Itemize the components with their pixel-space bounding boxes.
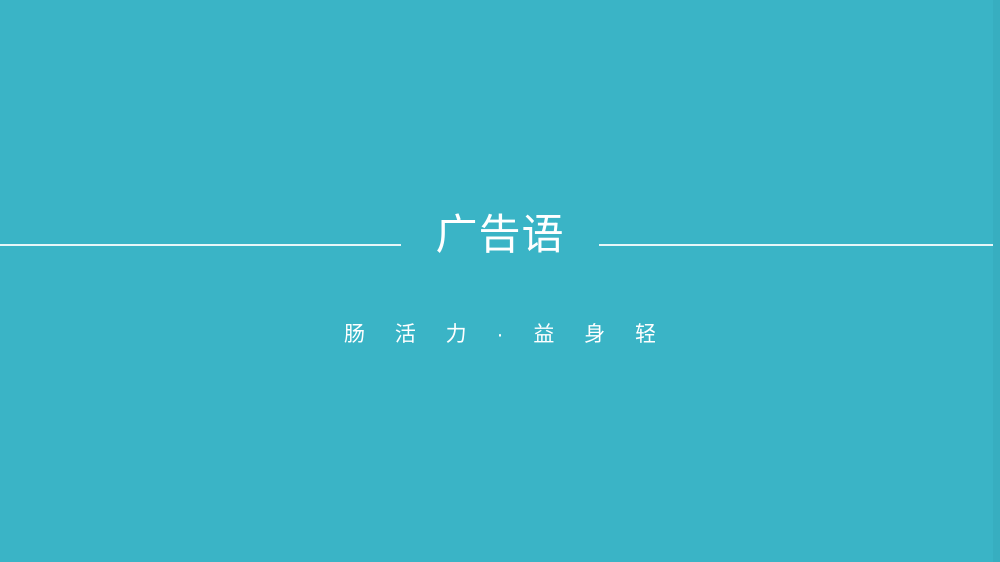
divider-rule-right — [583, 244, 993, 246]
slide-background — [0, 0, 1000, 562]
slide: 广告语 肠 活 力 · 益 身 轻 — [0, 0, 1000, 562]
slide-canvas-edge — [993, 0, 1000, 562]
slide-subtitle: 肠 活 力 · 益 身 轻 — [0, 322, 1000, 348]
divider-rule-left — [0, 244, 415, 246]
